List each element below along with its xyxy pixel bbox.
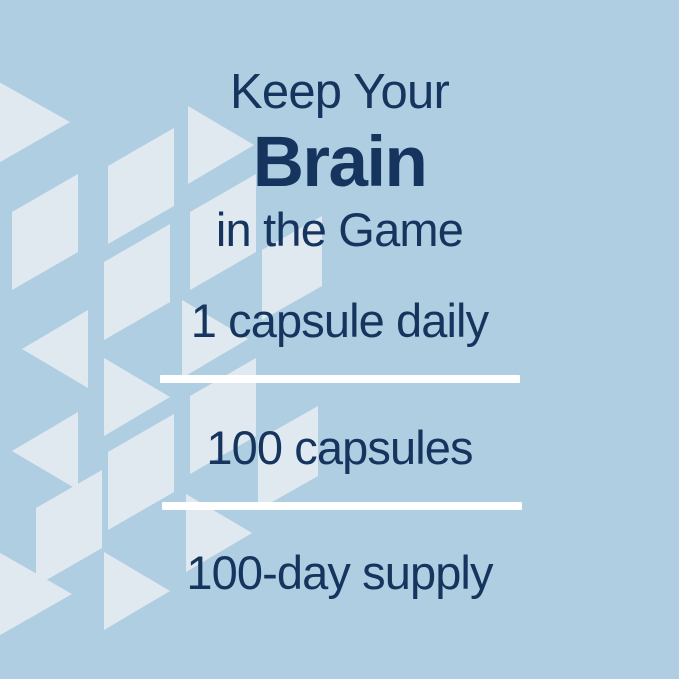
- fact-capsule-count: 100 capsules: [0, 424, 679, 471]
- divider-1: [160, 375, 520, 383]
- content-layer: Keep Your Brain in the Game 1 capsule da…: [0, 0, 679, 679]
- fact-supply-duration: 100-day supply: [0, 549, 679, 596]
- headline-line-3: in the Game: [0, 206, 679, 253]
- headline-line-1: Keep Your: [0, 68, 679, 117]
- divider-2: [162, 502, 522, 510]
- headline-line-2-brain: Brain: [0, 127, 679, 198]
- fact-dosage: 1 capsule daily: [0, 297, 679, 344]
- marketing-panel: Keep Your Brain in the Game 1 capsule da…: [0, 0, 679, 679]
